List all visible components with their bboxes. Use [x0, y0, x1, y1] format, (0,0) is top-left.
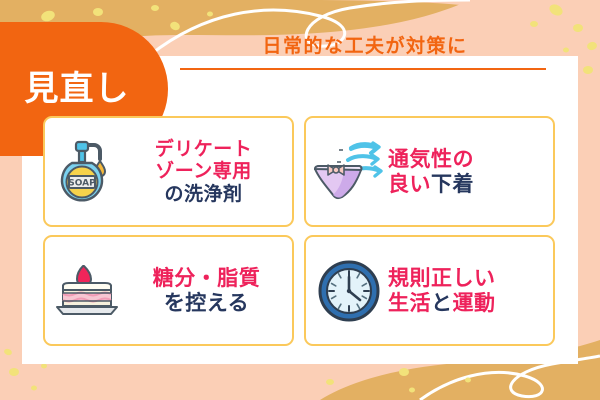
header-divider: [180, 68, 546, 70]
svg-text:SOAP: SOAP: [68, 178, 96, 188]
clock-icon: [310, 255, 388, 327]
review-badge-label: 見直し: [25, 72, 144, 106]
tip-card-lifestyle-text: 規則正しい 生活と運動: [388, 266, 547, 316]
page-title: 日常的な工夫が対策に: [180, 36, 550, 57]
tip-line: ゾーン専用: [121, 160, 286, 182]
tip-line-part: 生活: [388, 291, 431, 315]
breathable-underwear-icon: [310, 136, 388, 208]
tip-line: デリケート: [121, 138, 286, 160]
tip-line: 生活と運動: [388, 291, 547, 316]
soap-dispenser-icon: SOAP: [49, 136, 121, 208]
tip-card-cleanser-text: デリケート ゾーン専用 の洗浄剤: [121, 138, 286, 205]
tip-line-part: 下着: [431, 172, 474, 196]
tip-line: 通気性の: [388, 147, 547, 172]
tip-card-lifestyle[interactable]: 規則正しい 生活と運動: [304, 235, 555, 346]
tip-card-diet[interactable]: 糖分・脂質 を控える: [43, 235, 294, 346]
tip-line: 規則正しい: [388, 266, 547, 291]
tip-line: 糖分・脂質: [127, 266, 286, 291]
tip-card-underwear[interactable]: 通気性の 良い下着: [304, 116, 555, 227]
tip-line: 良い下着: [388, 172, 547, 197]
tip-line: の洗浄剤: [121, 183, 286, 205]
cake-slice-icon: [49, 255, 127, 327]
tip-line-part: 良い: [388, 172, 431, 196]
tips-grid: SOAP デリケート ゾーン専用 の洗浄剤: [43, 116, 550, 346]
tip-line-part: 運動: [453, 291, 496, 315]
header: 日常的な工夫が対策に: [180, 36, 550, 70]
tip-card-underwear-text: 通気性の 良い下着: [388, 147, 547, 197]
tip-line-part: と: [431, 291, 453, 315]
tip-card-diet-text: 糖分・脂質 を控える: [127, 266, 286, 316]
tip-line: を控える: [127, 291, 286, 316]
tip-card-cleanser[interactable]: SOAP デリケート ゾーン専用 の洗浄剤: [43, 116, 294, 227]
